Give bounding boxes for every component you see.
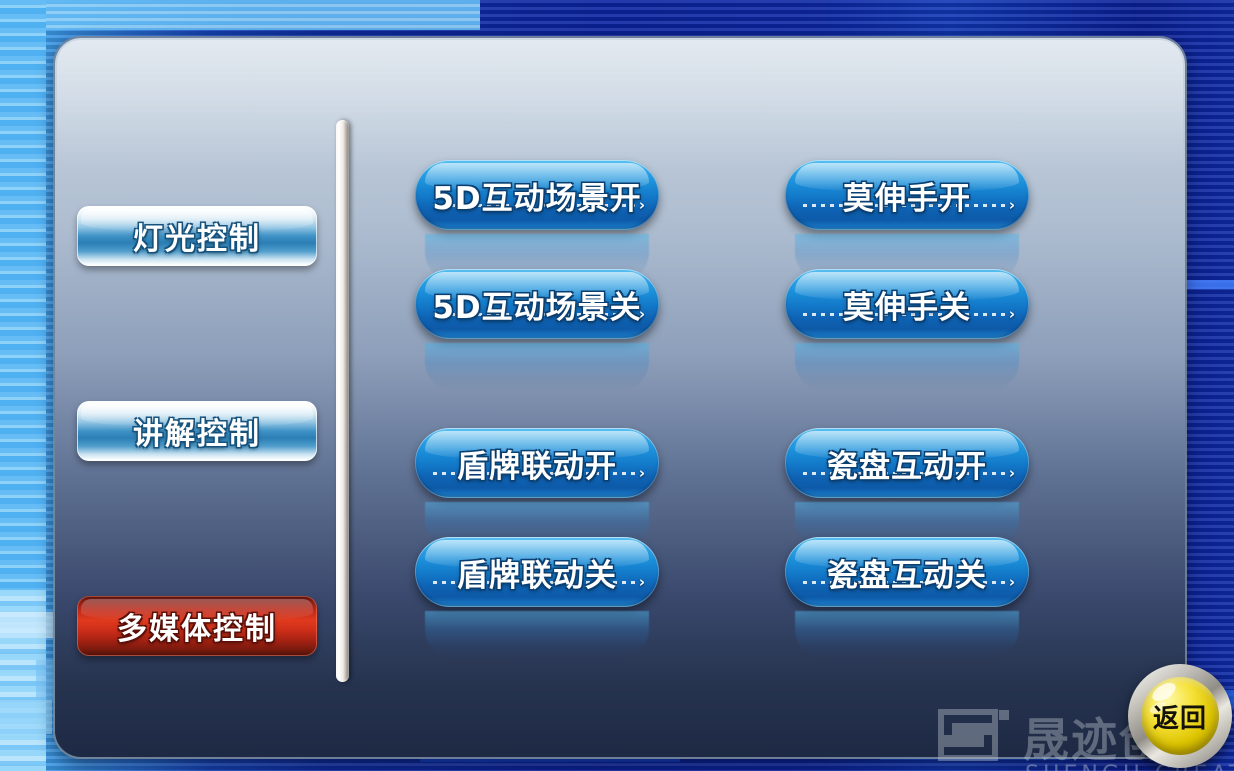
return-button-core: 返回 [1141, 677, 1219, 755]
chevron-right-icon: › [1009, 575, 1015, 590]
shengji-logo-icon [935, 706, 1013, 764]
button-reflection [425, 611, 649, 659]
background-top-stripe-band [0, 0, 480, 30]
grid-cell: 5D互动场景关 › [415, 269, 659, 401]
chevron-right-icon: › [1009, 307, 1015, 322]
control-button-porcelain-plate-on[interactable]: 瓷盘互动开 › [785, 428, 1029, 498]
sidebar-item-label: 多媒体控制 [117, 604, 277, 648]
control-button-no-touch-on[interactable]: 莫伸手开 › [785, 160, 1029, 230]
return-button-label: 返回 [1153, 698, 1207, 735]
background-block [1186, 280, 1234, 289]
control-button-5d-scene-on[interactable]: 5D互动场景开 › [415, 160, 659, 230]
control-button-label: 盾牌联动开 [457, 441, 617, 486]
grid-cell: 盾牌联动关 › [415, 537, 659, 669]
grid-cell: 莫伸手关 › [785, 269, 1029, 401]
sidebar-item-label: 讲解控制 [133, 409, 261, 453]
control-button-label: 5D互动场景关 [432, 282, 641, 327]
control-button-label: 莫伸手关 [843, 282, 971, 327]
grid-cell: 瓷盘互动关 › [785, 537, 1029, 669]
button-reflection [795, 343, 1019, 391]
chevron-right-icon: › [1009, 466, 1015, 481]
chevron-right-icon: › [639, 575, 645, 590]
control-button-grid: 5D互动场景开 › 莫伸手开 › [415, 160, 1095, 680]
chevron-right-icon: › [639, 466, 645, 481]
control-button-shield-linkage-on[interactable]: 盾牌联动开 › [415, 428, 659, 498]
return-button[interactable]: 返回 [1128, 664, 1232, 768]
control-button-no-touch-off[interactable]: 莫伸手关 › [785, 269, 1029, 339]
control-button-label: 瓷盘互动开 [827, 441, 987, 486]
control-button-label: 莫伸手开 [843, 173, 971, 218]
sidebar-item-lighting-control[interactable]: 灯光控制 [77, 206, 317, 266]
sidebar: 灯光控制 讲解控制 多媒体控制 [77, 168, 327, 708]
sidebar-item-multimedia-control[interactable]: 多媒体控制 [77, 596, 317, 656]
chevron-right-icon: › [1009, 198, 1015, 213]
background-block [0, 700, 52, 734]
sidebar-item-label: 灯光控制 [133, 214, 261, 258]
control-button-label: 5D互动场景开 [432, 173, 641, 218]
main-panel: 灯光控制 讲解控制 多媒体控制 5D互动场景开 › [55, 38, 1185, 757]
button-reflection [795, 611, 1019, 659]
control-button-5d-scene-off[interactable]: 5D互动场景关 › [415, 269, 659, 339]
app-screen: 灯光控制 讲解控制 多媒体控制 5D互动场景开 › [0, 0, 1234, 771]
control-button-porcelain-plate-off[interactable]: 瓷盘互动关 › [785, 537, 1029, 607]
button-reflection [425, 343, 649, 391]
control-button-shield-linkage-off[interactable]: 盾牌联动关 › [415, 537, 659, 607]
vertical-divider-bar [336, 120, 349, 682]
control-button-label: 瓷盘互动关 [827, 550, 987, 595]
sidebar-item-narration-control[interactable]: 讲解控制 [77, 401, 317, 461]
control-button-label: 盾牌联动关 [457, 550, 617, 595]
